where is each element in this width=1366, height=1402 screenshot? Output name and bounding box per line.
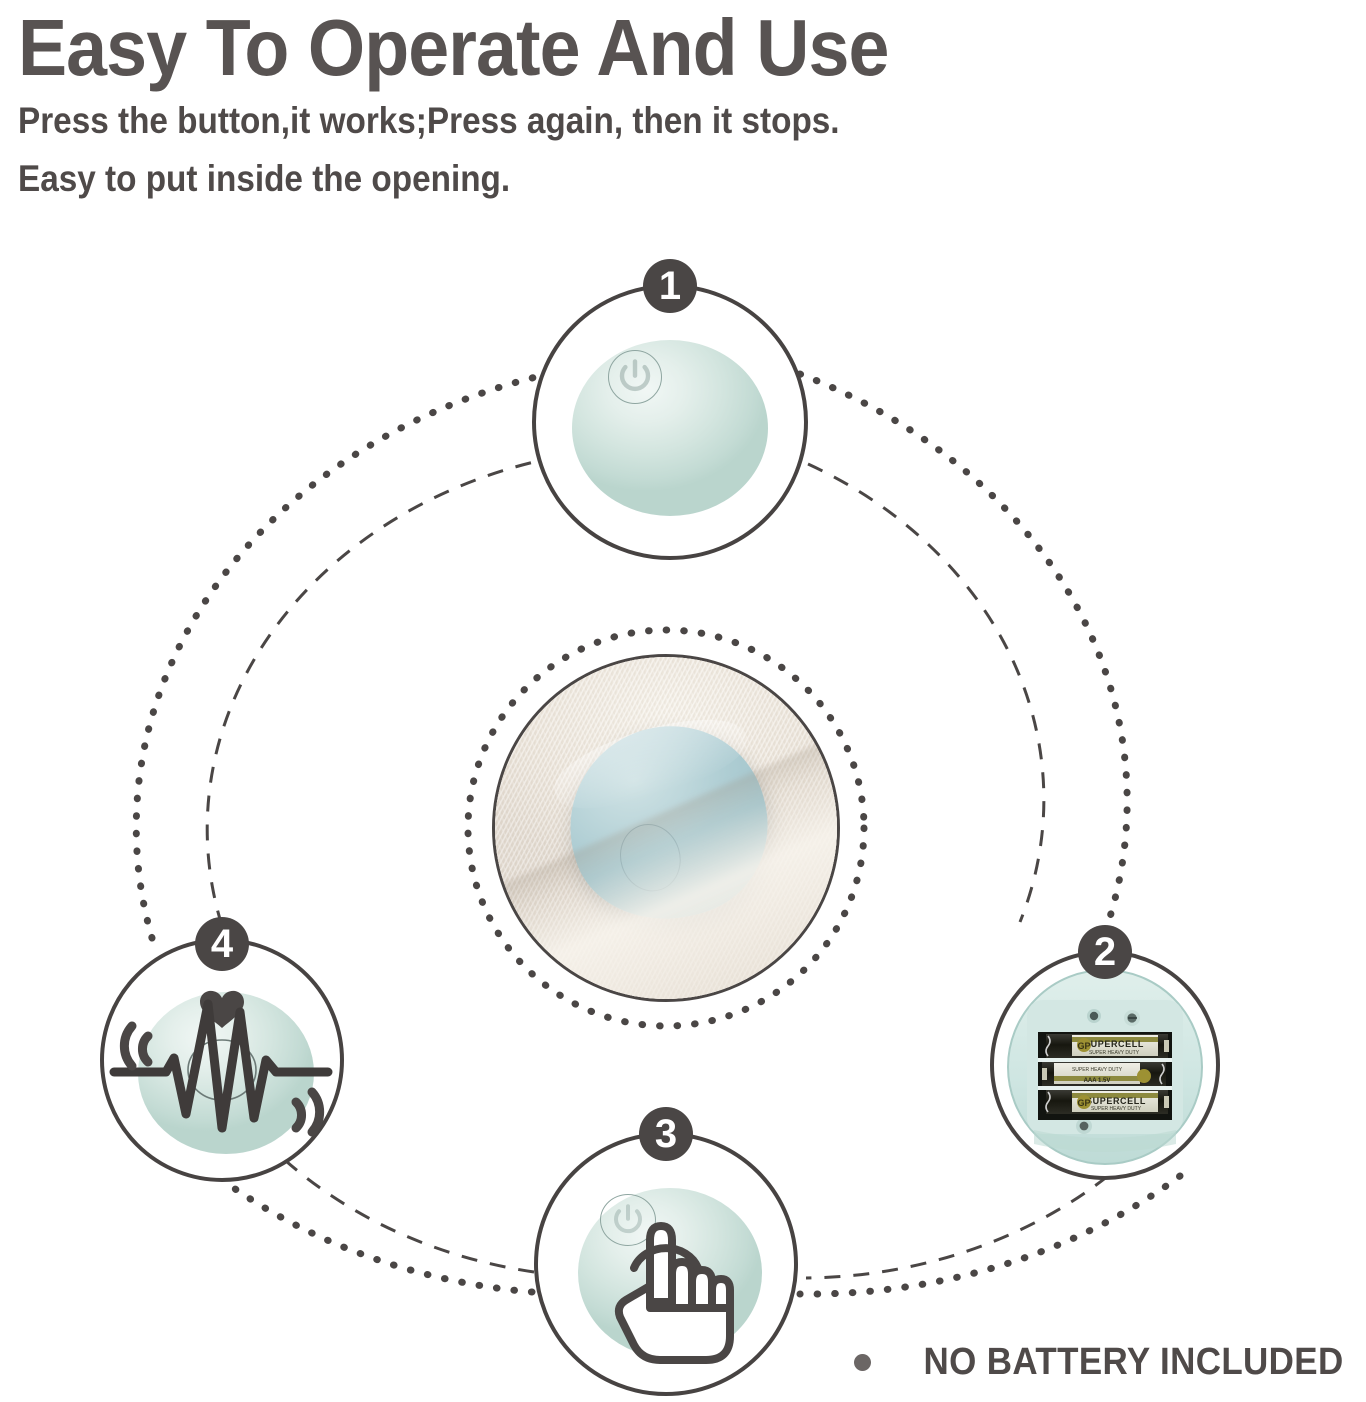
step-badge-1: 1 bbox=[643, 259, 697, 313]
bullet-icon bbox=[854, 1354, 871, 1371]
step-3-press-button[interactable]: 3 bbox=[534, 1132, 798, 1396]
step-badge-4: 4 bbox=[195, 917, 249, 971]
power-button-ring[interactable] bbox=[608, 350, 662, 404]
process-diagram: 1 2 bbox=[0, 246, 1366, 1402]
svg-text:SUPERCELL: SUPERCELL bbox=[1084, 1039, 1144, 1049]
arc-dashed-1-to-2 bbox=[808, 464, 1044, 922]
arc-dashed-4-to-1 bbox=[207, 462, 534, 926]
arc-dashed-2-to-3 bbox=[806, 1176, 1108, 1278]
no-battery-note: NO BATTERY INCLUDED bbox=[854, 1342, 1344, 1382]
step-2-battery-compartment[interactable]: 2 bbox=[990, 950, 1220, 1180]
vibration-arcs-right bbox=[296, 1092, 320, 1132]
vibration-illustration bbox=[104, 942, 340, 1178]
svg-text:GP: GP bbox=[1077, 1041, 1090, 1051]
battery-2: SUPER HEAVY DUTY AAA 1.5V bbox=[1042, 1062, 1166, 1086]
arc-dotted-1-to-2 bbox=[800, 374, 1127, 946]
battery-3: SUPERCELL SUPER HEAVY DUTY GP bbox=[1046, 1090, 1169, 1114]
step-4-vibration[interactable]: 4 bbox=[100, 938, 344, 1182]
battery-compartment-illustration: SUPERCELL SUPER HEAVY DUTY GP SUPER HEAV… bbox=[994, 954, 1216, 1176]
step-1-power-button[interactable]: 1 bbox=[532, 284, 808, 560]
svg-text:AAA 1.5V: AAA 1.5V bbox=[1084, 1078, 1111, 1084]
device-body bbox=[572, 340, 768, 516]
vibration-arcs-left bbox=[124, 1026, 148, 1066]
svg-text:SUPER HEAVY DUTY: SUPER HEAVY DUTY bbox=[1091, 1106, 1142, 1112]
arc-dotted-3-to-4 bbox=[228, 1184, 532, 1292]
hand-press-icon bbox=[538, 1136, 794, 1392]
product-in-fabric-photo bbox=[492, 654, 840, 1002]
subtitle-line-1: Press the button,it works;Press again, t… bbox=[18, 92, 1215, 150]
subtitle-line-2: Easy to put inside the opening. bbox=[18, 150, 1215, 208]
arc-dotted-4-to-1 bbox=[136, 376, 540, 938]
power-icon bbox=[609, 351, 661, 403]
step-badge-2: 2 bbox=[1078, 925, 1132, 979]
svg-text:SUPER HEAVY DUTY: SUPER HEAVY DUTY bbox=[1089, 1050, 1140, 1056]
svg-text:SUPER HEAVY DUTY: SUPER HEAVY DUTY bbox=[1072, 1067, 1123, 1073]
step-badge-3: 3 bbox=[639, 1107, 693, 1161]
svg-text:SUPERCELL: SUPERCELL bbox=[1086, 1096, 1146, 1106]
header: Easy To Operate And Use Press the button… bbox=[18, 0, 1348, 208]
battery-1: SUPERCELL SUPER HEAVY DUTY GP bbox=[1046, 1034, 1169, 1058]
svg-text:GP: GP bbox=[1077, 1098, 1090, 1108]
page-title: Easy To Operate And Use bbox=[18, 4, 1242, 92]
no-battery-label: NO BATTERY INCLUDED bbox=[924, 1342, 1344, 1382]
